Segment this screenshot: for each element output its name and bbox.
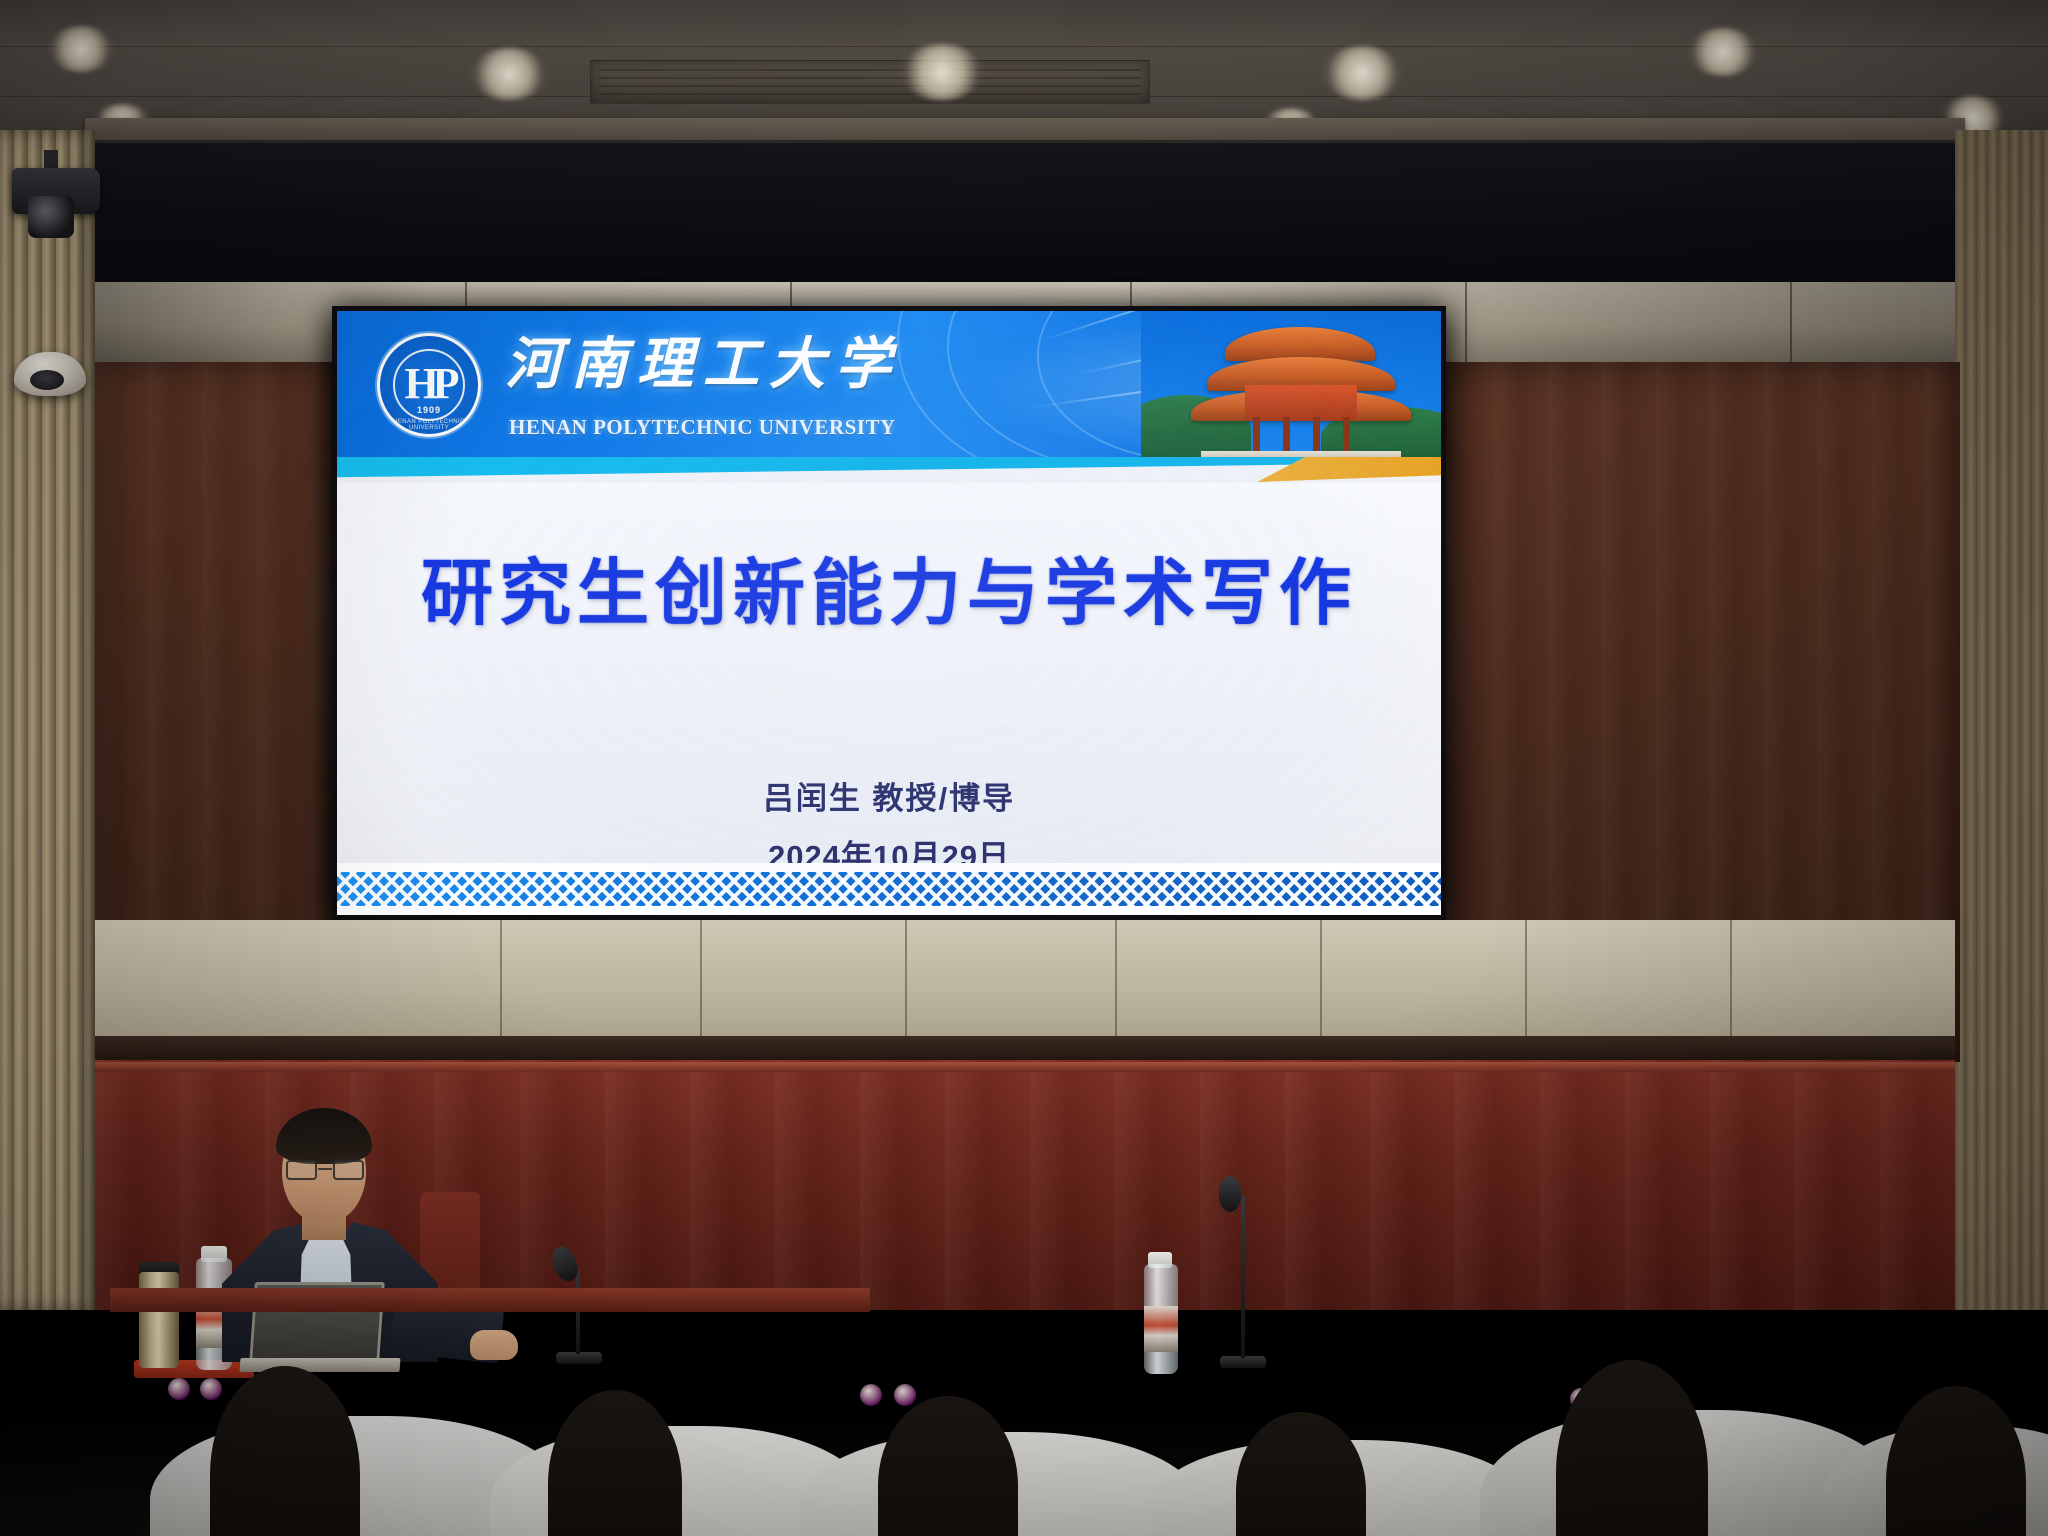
projection-screen: HP 1909 HENAN POLYTECHNIC UNIVERSITY 河南理… <box>332 306 1446 920</box>
wall-slat-panel-right <box>1955 130 2048 1310</box>
pavilion-photo <box>1141 311 1441 463</box>
slide-title: 研究生创新能力与学术写作 <box>337 555 1441 634</box>
ceiling-light <box>1688 28 1758 76</box>
audience-head <box>210 1366 360 1536</box>
ceiling-vent <box>590 60 1150 104</box>
slide-body: 研究生创新能力与学术写作 吕闰生 教授/博导 2024年10月29日 <box>337 483 1441 863</box>
microphone-stem <box>1241 1196 1245 1358</box>
table-edge <box>110 1288 870 1312</box>
lecture-hall-scene: HP 1909 HENAN POLYTECHNIC UNIVERSITY 河南理… <box>0 0 2048 1536</box>
slide-presenter: 吕闰生 教授/博导 <box>337 773 1441 818</box>
audience-head <box>1556 1360 1708 1536</box>
audience-head <box>1886 1386 2026 1536</box>
ceiling-light <box>1322 46 1402 100</box>
camera-lens-icon <box>28 196 74 238</box>
presenter-hand <box>470 1330 518 1360</box>
banner-divider <box>337 457 1441 483</box>
audience-head <box>548 1390 682 1536</box>
dome-camera <box>14 352 86 396</box>
desk-rail <box>95 1062 1955 1072</box>
wall-slat-panel-left <box>0 130 95 1310</box>
seal-monogram: HP <box>380 362 478 406</box>
university-seal: HP 1909 HENAN POLYTECHNIC UNIVERSITY <box>377 333 481 437</box>
bottle-label <box>1144 1306 1178 1352</box>
presentation-slide: HP 1909 HENAN POLYTECHNIC UNIVERSITY 河南理… <box>337 311 1441 915</box>
seal-year: 1909 <box>380 405 478 415</box>
slide-footer-border <box>337 863 1441 915</box>
thermos-flask <box>139 1272 179 1368</box>
microphone-stem <box>576 1270 580 1354</box>
university-name-en: HENAN POLYTECHNIC UNIVERSITY <box>509 415 896 440</box>
ceiling-light <box>48 26 114 72</box>
desk-microphone <box>1219 1176 1241 1212</box>
seal-arc-text: HENAN POLYTECHNIC UNIVERSITY <box>380 419 478 431</box>
wall-dark-band <box>95 140 1955 285</box>
desk-surface <box>95 1036 1955 1062</box>
glasses-icon <box>286 1160 364 1180</box>
ceiling-light <box>900 44 984 100</box>
university-name-cn: 河南理工大学 <box>505 337 901 393</box>
ceiling-light <box>470 48 548 100</box>
slide-banner: HP 1909 HENAN POLYTECHNIC UNIVERSITY 河南理… <box>337 311 1441 463</box>
